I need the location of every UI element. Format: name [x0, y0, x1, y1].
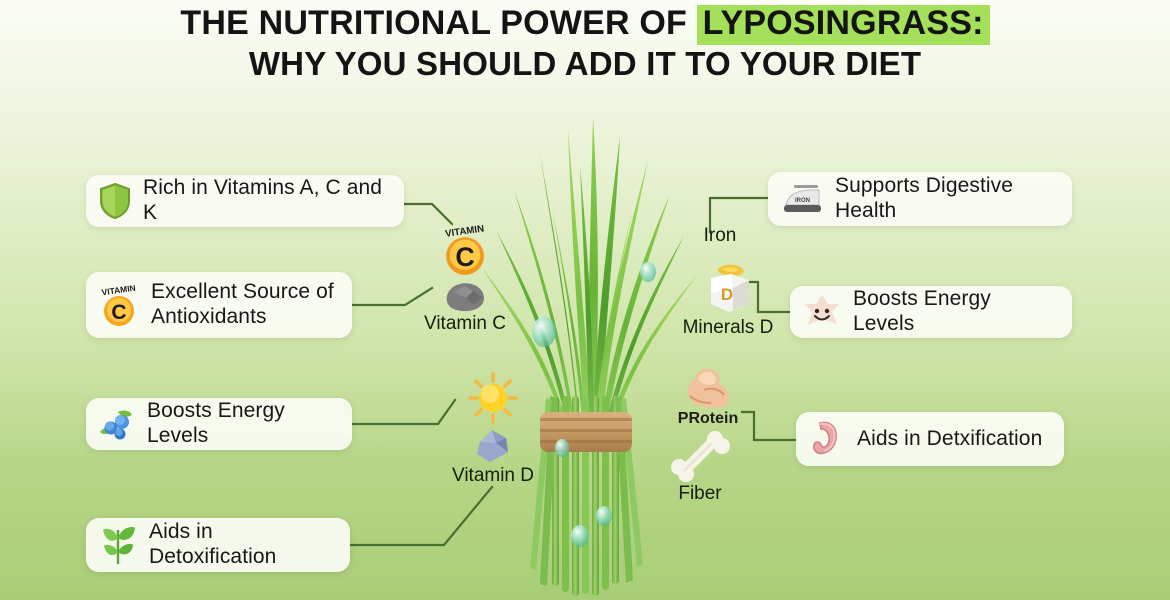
- card-label: Boosts Energy Levels: [147, 399, 336, 449]
- svg-text:C: C: [455, 242, 474, 272]
- card-label: Aids in Detoxification: [149, 520, 334, 570]
- card-aids-in-detoxification-left[interactable]: Aids in Detoxification: [86, 518, 350, 572]
- node-icons: [650, 428, 750, 484]
- node-label: PRotein: [662, 410, 754, 428]
- node-icons: [662, 366, 754, 410]
- title-prefix: THE NUTRITIONAL POWER OF: [180, 4, 696, 42]
- card-rich-in-vitamins[interactable]: Rich in Vitamins A, C and K: [86, 175, 404, 227]
- node-label: Fiber: [650, 484, 750, 505]
- smiley-face-icon: [802, 293, 842, 331]
- node-fiber: Fiber: [650, 428, 750, 505]
- card-label: Supports Digestive Health: [835, 174, 1056, 224]
- card-aids-in-detxification-right[interactable]: Aids in Detxification: [796, 412, 1064, 466]
- card-label: Aids in Detxification: [857, 427, 1042, 452]
- title-line-1: THE NUTRITIONAL POWER OF LYPOSINGRASS:: [0, 4, 1170, 45]
- svg-text:IRON: IRON: [795, 198, 810, 204]
- page-title: THE NUTRITIONAL POWER OF LYPOSINGRASS: W…: [0, 4, 1170, 83]
- shield-icon: [98, 182, 132, 220]
- title-highlight: LYPOSINGRASS:: [697, 5, 990, 45]
- svg-text:C: C: [111, 301, 126, 324]
- vitamin-c-icon: VITAMIN C: [98, 282, 140, 328]
- card-label: Excellent Source of Antioxidants: [151, 280, 334, 330]
- title-line-2: WHY YOU SHOULD ADD IT TO YOUR DIET: [0, 45, 1170, 83]
- node-vitamin-c: VITAMIN C Vitamin C: [418, 222, 512, 335]
- stomach-icon: [808, 419, 846, 459]
- sun-icon: [465, 372, 521, 424]
- node-vitamin-d: Vitamin D: [438, 372, 548, 487]
- card-label: Boosts Energy Levels: [853, 287, 1056, 337]
- node-label: Vitamin D: [438, 466, 548, 487]
- node-icons: VITAMIN C: [418, 222, 512, 314]
- node-icons: [438, 372, 548, 466]
- mineral-cube-d-icon: D: [697, 260, 759, 318]
- node-label: Minerals D: [672, 318, 784, 339]
- card-label: Rich in Vitamins A, C and K: [143, 176, 388, 226]
- stone-icon: [440, 280, 490, 314]
- svg-text:VITAMIN: VITAMIN: [101, 283, 136, 298]
- node-minerals-d: D Minerals D: [672, 260, 784, 339]
- node-protein: PRotein: [662, 366, 754, 428]
- card-boosts-energy-levels-left[interactable]: Boosts Energy Levels: [86, 398, 352, 450]
- leaf-icon: [98, 524, 138, 566]
- node-iron: Iron: [680, 226, 760, 247]
- crystal-icon: [470, 426, 516, 466]
- bone-icon: [669, 428, 731, 484]
- card-excellent-source-antioxidants[interactable]: VITAMIN C Excellent Source of Antioxidan…: [86, 272, 352, 338]
- node-label: Vitamin C: [418, 314, 512, 335]
- vitamin-c-badge-icon: VITAMIN C: [437, 222, 493, 278]
- blueberries-icon: [98, 406, 136, 442]
- svg-text:D: D: [721, 285, 733, 304]
- bicep-icon: [680, 366, 736, 410]
- card-boosts-energy-levels-right[interactable]: Boosts Energy Levels: [790, 286, 1072, 338]
- iron-icon: IRON: [780, 181, 824, 217]
- card-supports-digestive-health[interactable]: IRON Supports Digestive Health: [768, 172, 1072, 226]
- node-label: Iron: [680, 226, 760, 247]
- node-icons: D: [672, 260, 784, 318]
- infographic-canvas: THE NUTRITIONAL POWER OF LYPOSINGRASS: W…: [0, 0, 1170, 600]
